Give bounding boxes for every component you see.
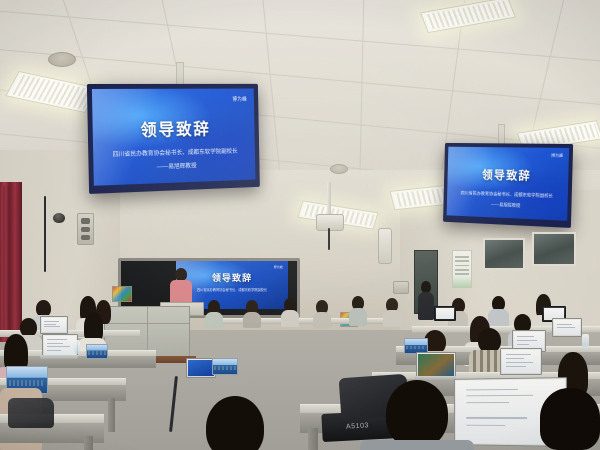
person-torso [281,310,299,327]
backpack [8,398,54,428]
person-head [386,380,448,448]
booklet-cover-skyline [88,351,106,354]
laptop-lid [434,306,456,321]
projector-cable [328,228,330,250]
side-slide-subtitle-line2: ——易旭辉教授 [451,200,562,211]
booklet-cover-image [87,345,107,350]
person-torso [205,312,223,328]
wall-speaker [77,213,94,245]
main-slide-subtitle-line1: 四川省民办教育协会秘书长、成都东软学院副校长 [100,147,249,160]
wall-poster [112,286,132,302]
laptop-screen [188,360,214,376]
ceiling-projector [316,214,344,231]
booklet-cover-skyline [9,380,44,387]
laptop-screen [42,318,66,332]
side-display: 领导致辞 四川省民办教育协会秘书长、成都东软学院副校长 ——易旭辉教授 博为峰 [443,143,573,228]
person-hair [540,388,600,450]
window-curtain-fold [0,186,9,336]
main-slide-logo: 博为峰 [232,95,247,103]
person-torso [383,310,402,327]
laptop-lid [416,352,456,378]
lecture-hall-photo: 领导致辞 四川省民办教育协会秘书长、成都东软学院副校长 ——易旭辉教授 博为峰 … [0,0,600,450]
person-torso [349,308,367,326]
laptop-lid [500,348,542,375]
side-slide-logo: 博为峰 [551,153,563,159]
side-slide-title: 领导致辞 [447,166,568,185]
laptop-screen [502,350,540,373]
front-screen-subtitle: 四川省民办教育协会秘书长、成都东软学院副校长 [180,288,283,293]
main-display: 领导致辞 四川省民办教育协会秘书长、成都东软学院副校长 ——易旭辉教授 博为峰 [87,84,260,194]
laptop-screen [44,336,76,355]
desk-leg [84,436,93,450]
laptop-base [40,355,78,359]
laptop-lid [552,318,582,337]
side-slide-subtitle-line1: 四川省民办教育协会秘书长、成都东软学院副校长 [452,190,563,200]
laptop-screen [418,354,454,376]
front-screen-logo: 博为峰 [274,265,283,269]
laptop-lid [40,316,68,334]
dome-security-camera [53,213,65,223]
smoke-detector-dome [330,164,348,174]
person-torso [313,312,331,328]
booklet-cover-image [405,339,427,345]
main-slide-title: 领导致辞 [92,115,254,142]
desk-surface [206,318,396,324]
booklet-cover-skyline [214,366,235,370]
laptop-lid [42,334,78,357]
laptop-screen [436,308,454,319]
booklet-cover-image [7,367,47,377]
person-torso [243,312,261,328]
person-torso [418,292,434,320]
main-display-panel: 领导致辞 四川省民办教育协会秘书长、成都东软学院副校长 ——易旭辉教授 博为峰 [92,89,256,186]
booklet-cover-skyline [406,346,425,350]
interior-window [483,238,525,270]
person-torso [360,440,474,450]
water-bottle [582,334,589,350]
conference-booklet [212,358,238,375]
air-conditioner-unit [378,228,392,264]
side-display-panel: 领导致辞 四川省民办教育协会秘书长、成都东软学院副校长 ——易旭辉教授 博为峰 [447,147,570,221]
wall-panel-box [393,281,409,294]
wall-notice-board [452,250,472,288]
booklet-cover-image [213,359,237,365]
conference-booklet [86,344,108,359]
main-slide-subtitle-line2: ——易旭辉教授 [100,160,249,174]
interior-window [532,232,576,266]
camera-conduit [44,196,46,272]
laptop-screen [554,320,580,335]
water-bottle [74,340,80,354]
desk-leg [108,398,115,432]
ceiling-speaker-dome [48,52,76,67]
desk-leg [308,428,318,450]
